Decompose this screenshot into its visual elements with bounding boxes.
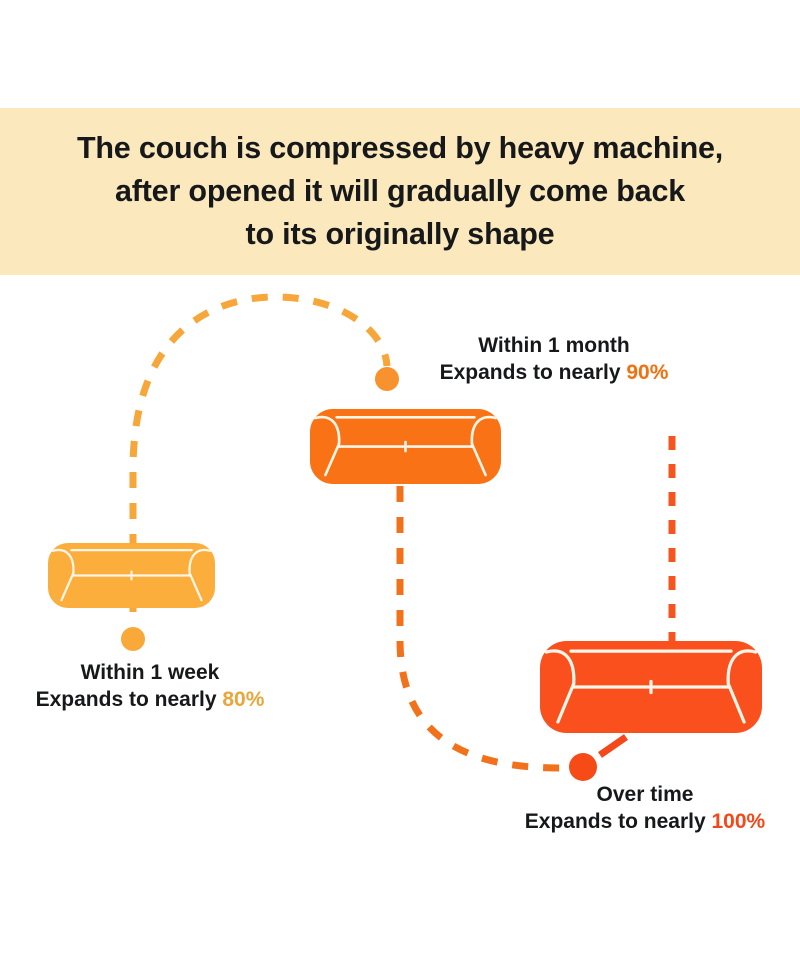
- couch-icon-month: [310, 409, 501, 484]
- node-dot-month: [375, 367, 399, 391]
- node-dot-week: [121, 627, 145, 651]
- callout-week-title: Within 1 week: [0, 660, 300, 686]
- callout-week: Within 1 week Expands to nearly 80%: [0, 660, 300, 715]
- couch-icon-week: [48, 543, 215, 608]
- callout-overtime-percent: 100%: [712, 810, 766, 833]
- connector-overtime-tick: [600, 737, 626, 755]
- callout-month-title: Within 1 month: [404, 333, 704, 359]
- callout-overtime-description: Expands to nearly 100%: [495, 808, 795, 836]
- callout-week-prefix: Expands to nearly: [36, 688, 223, 711]
- callout-week-description: Expands to nearly 80%: [0, 686, 300, 714]
- callout-month: Within 1 month Expands to nearly 90%: [404, 333, 704, 388]
- callout-week-percent: 80%: [222, 688, 264, 711]
- node-dot-overtime: [569, 753, 597, 781]
- couch-icon-overtime: [540, 641, 762, 733]
- connector-month-to-overtime: [400, 486, 560, 768]
- callout-month-prefix: Expands to nearly: [440, 361, 627, 384]
- callout-overtime-title: Over time: [495, 782, 795, 808]
- callout-overtime-prefix: Expands to nearly: [525, 810, 712, 833]
- callout-month-description: Expands to nearly 90%: [404, 359, 704, 387]
- callout-overtime: Over time Expands to nearly 100%: [495, 782, 795, 837]
- infographic-root: The couch is compressed by heavy machine…: [0, 0, 800, 977]
- callout-month-percent: 90%: [626, 361, 668, 384]
